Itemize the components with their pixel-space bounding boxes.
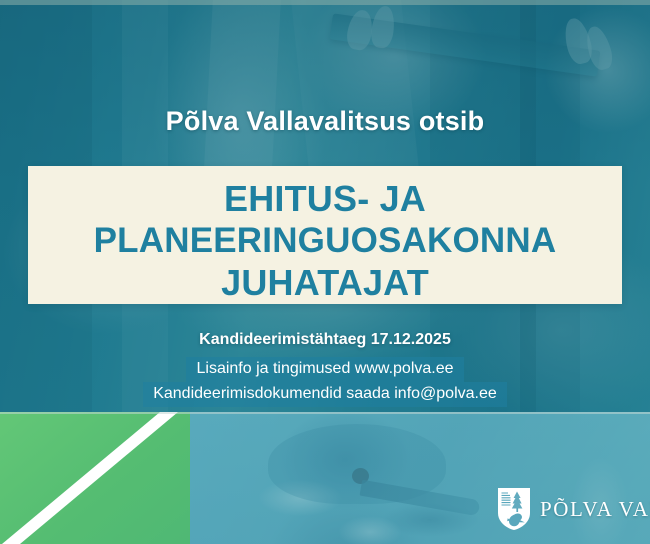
info-row: Lisainfo ja tingimused www.polva.ee xyxy=(0,357,650,382)
job-title-line-3: JUHATAJAT xyxy=(28,262,622,304)
job-title: EHITUS- JA PLANEERINGUOSAKONNA JUHATAJAT xyxy=(28,178,622,304)
polva-vald-logo: PÕLVA VALD xyxy=(497,487,650,531)
job-title-line-2: PLANEERINGUOSAKONNA xyxy=(28,220,622,262)
info-row: Kandideerimisdokumendid saada info@polva… xyxy=(0,382,650,407)
application-deadline: Kandideerimistähtaeg 17.12.2025 xyxy=(0,331,650,349)
polva-vald-coat-of-arms-shield-icon xyxy=(497,487,531,531)
info-lines: Lisainfo ja tingimused www.polva.ee Kand… xyxy=(0,357,650,407)
job-advert-poster: Põlva Vallavalitsus otsib EHITUS- JA PLA… xyxy=(0,0,650,544)
logo-text: PÕLVA VALD xyxy=(540,497,650,522)
info-line-website: Lisainfo ja tingimused www.polva.ee xyxy=(186,357,463,382)
job-title-line-1: EHITUS- JA xyxy=(28,178,622,220)
band-divider xyxy=(0,412,650,414)
info-line-email: Kandideerimisdokumendid saada info@polva… xyxy=(143,382,507,407)
top-edge-hairline xyxy=(0,0,650,5)
job-title-panel: EHITUS- JA PLANEERINGUOSAKONNA JUHATAJAT xyxy=(28,166,622,304)
kicker-heading: Põlva Vallavalitsus otsib xyxy=(0,106,650,137)
